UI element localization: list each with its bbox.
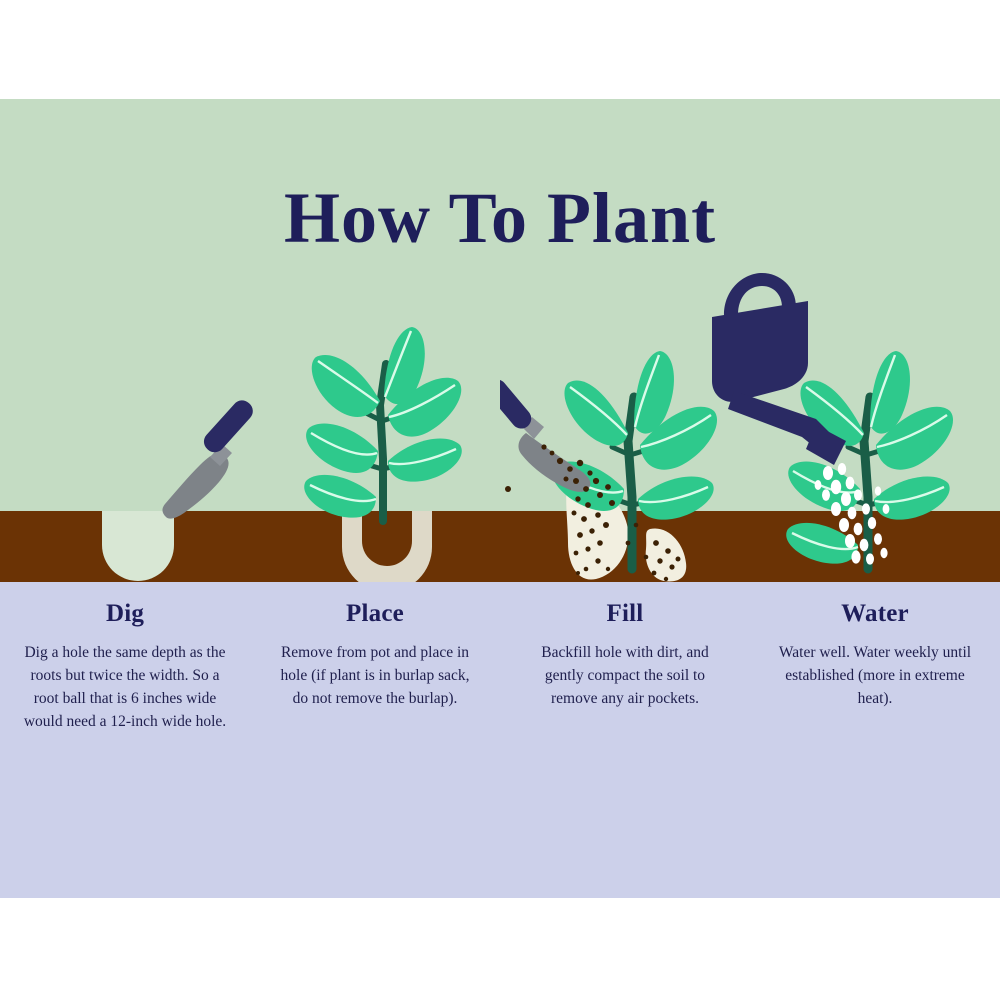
step-heading-place: Place <box>272 600 478 628</box>
step-illustration-place <box>288 309 518 582</box>
page-title: How To Plant <box>0 179 1000 258</box>
step-body-dig: Dig a hole the same depth as the roots b… <box>22 642 228 734</box>
step-heading-dig: Dig <box>22 600 228 628</box>
step-column-place: Place Remove from pot and place in hole … <box>250 600 500 734</box>
step-column-fill: Fill Backfill hole with dirt, and gently… <box>500 600 750 734</box>
trowel-handle-icon <box>200 396 257 456</box>
step-column-dig: Dig Dig a hole the same depth as the roo… <box>0 600 250 734</box>
step-heading-fill: Fill <box>522 600 728 628</box>
step-illustration-dig <box>60 349 290 582</box>
dig-hole-shape <box>102 511 174 581</box>
step-illustration-water <box>700 259 960 582</box>
infographic-poster: How To Plant <box>0 99 1000 898</box>
steps-columns: Dig Dig a hole the same depth as the roo… <box>0 600 1000 734</box>
step-body-place: Remove from pot and place in hole (if pl… <box>272 642 478 711</box>
steps-info-band: Dig Dig a hole the same depth as the roo… <box>0 582 1000 898</box>
step-body-fill: Backfill hole with dirt, and gently comp… <box>522 642 728 711</box>
step-column-water: Water Water well. Water weekly until est… <box>750 600 1000 734</box>
step-body-water: Water well. Water weekly until establish… <box>772 642 978 711</box>
step-heading-water: Water <box>772 600 978 628</box>
illustration-scene: How To Plant <box>0 99 1000 582</box>
watering-can-icon <box>712 273 846 465</box>
